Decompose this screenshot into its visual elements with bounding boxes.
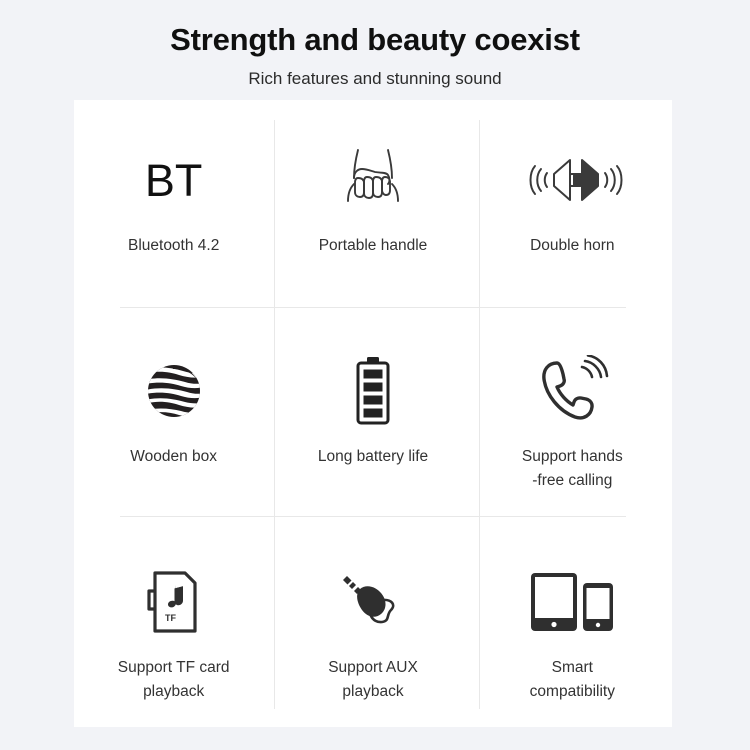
bt-text-icon: BT: [145, 138, 203, 222]
feature-cell-portable-handle[interactable]: Portable handle: [273, 100, 472, 309]
feature-label: Support TF card playback: [118, 656, 230, 704]
tablet-phone-devices-icon: [529, 560, 615, 644]
feature-label: Wooden box: [130, 445, 217, 469]
bt-icon-label: BT: [145, 158, 203, 203]
feature-label: Smart compatibility: [530, 656, 615, 704]
hand-grip-handle-icon: [334, 138, 412, 222]
wood-grain-sphere-icon: [143, 349, 205, 433]
feature-cell-bluetooth[interactable]: BT Bluetooth 4.2: [74, 100, 273, 309]
feature-cell-smart-compatibility[interactable]: Smart compatibility: [473, 518, 672, 727]
feature-cell-battery[interactable]: Long battery life: [273, 309, 472, 518]
feature-grid: BT Bluetooth 4.2: [74, 100, 672, 727]
tf-memory-card-music-icon: TF: [145, 560, 203, 644]
feature-label: Double horn: [530, 234, 614, 258]
feature-cell-hands-free-calling[interactable]: Support hands -free calling: [473, 309, 672, 518]
double-speaker-horn-icon: [520, 138, 624, 222]
product-feature-page: Strength and beauty coexist Rich feature…: [0, 0, 750, 750]
battery-icon: [350, 349, 396, 433]
feature-cell-tf-card[interactable]: TF Support TF card playback: [74, 518, 273, 727]
feature-label: Bluetooth 4.2: [128, 234, 219, 258]
phone-handset-waves-icon: [535, 349, 609, 433]
feature-label: Portable handle: [319, 234, 428, 258]
feature-cell-double-horn[interactable]: Double horn: [473, 100, 672, 309]
feature-label: Long battery life: [318, 445, 428, 469]
feature-cell-wooden-box[interactable]: Wooden box: [74, 309, 273, 518]
page-header: Strength and beauty coexist Rich feature…: [0, 0, 750, 89]
feature-cell-aux[interactable]: Support AUX playback: [273, 518, 472, 727]
page-title: Strength and beauty coexist: [0, 0, 750, 57]
tf-card-text: TF: [165, 613, 176, 623]
feature-card: BT Bluetooth 4.2: [74, 100, 672, 727]
feature-label: Support AUX playback: [328, 656, 418, 704]
page-subtitle: Rich features and stunning sound: [0, 57, 750, 89]
feature-label: Support hands -free calling: [522, 445, 623, 493]
aux-audio-jack-icon: [334, 560, 412, 644]
